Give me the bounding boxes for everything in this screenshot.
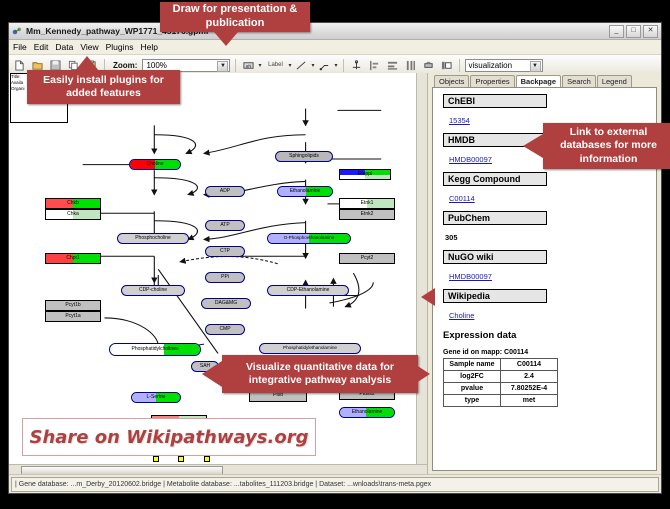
plugins-callout-pointer (75, 56, 99, 71)
menu-item-data[interactable]: Data (55, 42, 73, 52)
screenshot-root: Mm_Kennedy_pathway_WP1771_45176.gpml _ □… (0, 0, 670, 509)
node-label: Pisd (273, 393, 283, 398)
selection-handle[interactable] (204, 456, 210, 462)
tab-objects[interactable]: Objects (434, 75, 469, 87)
node-pcyt2[interactable]: Pcyt2 (339, 253, 395, 264)
node-label: Pcyt1a (65, 314, 80, 319)
tab-backpage[interactable]: Backpage (516, 75, 561, 87)
visualize-callout-pointer-left (202, 361, 222, 387)
link-callout-pointer (523, 134, 543, 158)
table-row: Sample name C00114 (444, 359, 558, 371)
node-label: Ethanolamine (290, 189, 321, 194)
node-label: Phosphocholine (135, 236, 171, 241)
db-link-kegg[interactable]: C00114 (449, 194, 475, 203)
maximize-button[interactable]: □ (626, 25, 641, 38)
node-label: Etnk2 (361, 212, 374, 217)
align-left-icon[interactable] (367, 58, 382, 73)
title-bar: Mm_Kennedy_pathway_WP1771_45176.gpml _ □… (9, 23, 661, 40)
cell-value: 2.4 (501, 371, 558, 383)
node-o-phosphoethanolamine[interactable]: O-Phosphoethanolamine (267, 233, 351, 244)
pathvisio-icon (12, 26, 22, 36)
node-pcyt1a[interactable]: Pcyt1a (45, 311, 101, 322)
node-etnk2[interactable]: Etnk2 (339, 209, 395, 220)
data-node-icon[interactable]: aN (241, 58, 256, 73)
menu-item-view[interactable]: View (80, 42, 98, 52)
line-icon[interactable] (294, 58, 309, 73)
tab-search[interactable]: Search (562, 75, 596, 87)
node-label: Pcyt2 (361, 256, 374, 261)
cell-key: pvalue (444, 383, 501, 395)
zoom-label: Zoom: (113, 61, 137, 70)
cell-key: Sample name (444, 359, 501, 371)
expression-data-heading: Expression data (443, 330, 656, 341)
zoom-value: 100% (146, 61, 166, 70)
db-link-wikipedia[interactable]: Choline (449, 311, 474, 320)
node-chka[interactable]: Chka (45, 209, 101, 220)
menu-item-help[interactable]: Help (141, 42, 158, 52)
node-ethanolamine-right[interactable]: Ethanolamine (339, 407, 395, 418)
pathway-organism-label: Organi (11, 86, 25, 92)
node-label: Phosphatidylethanolamine (283, 346, 337, 351)
expression-callout-pointer (421, 288, 435, 306)
pathway-canvas[interactable]: Title: Availa Organi (9, 73, 428, 475)
gene-id-label: Gene id on mapp: C00114 (443, 349, 656, 356)
node-label: CDP-choline (139, 288, 167, 293)
db-link-chebi[interactable]: 15354 (449, 116, 470, 125)
menu-bar: File Edit Data View Plugins Help (9, 40, 661, 55)
label-dropdown-icon[interactable]: ▾ (288, 62, 291, 69)
node-chpt1[interactable]: Chpt1 (45, 253, 101, 264)
node-label: DAG&MG (215, 301, 237, 306)
side-panel-tabs: Objects Properties Backpage Search Legen… (428, 73, 661, 87)
draw-callout: Draw for presentation & publication (160, 2, 310, 32)
node-l-serine-left[interactable]: L-Serine (131, 392, 181, 403)
node-label: Chka (67, 212, 79, 217)
selection-handle[interactable] (153, 456, 159, 462)
table-row: pvalue 7.80252E-4 (444, 383, 558, 395)
visualization-chevron-down-icon[interactable]: ▼ (530, 61, 541, 72)
pathway-info-text: Title: Availa Organi (11, 74, 25, 92)
node-label: Etnppl (358, 172, 372, 177)
node-phosphocholine[interactable]: Phosphocholine (117, 233, 189, 244)
node-label: ADP (220, 189, 230, 194)
db-header-kegg-compound: Kegg Compound (443, 172, 547, 186)
node-pcyt1b[interactable]: Pcyt1b (45, 300, 101, 311)
table-row: log2FC 2.4 (444, 371, 558, 383)
node-cmp[interactable]: CMP (205, 324, 245, 335)
db-header-wikipedia: Wikipedia (443, 289, 547, 303)
cell-value: 7.80252E-4 (501, 383, 558, 395)
selection-handle[interactable] (178, 456, 184, 462)
share-banner: Share on Wikipathways.org (22, 418, 316, 456)
node-ppi[interactable]: PPi (205, 272, 245, 283)
toolbar-separator-2 (235, 59, 236, 72)
node-label: CTP (220, 249, 230, 254)
window-controls: _ □ ✕ (609, 25, 658, 38)
visualize-callout-pointer-right (410, 361, 430, 387)
node-etnk1[interactable]: Etnk1 (339, 198, 395, 209)
table-row: type met (444, 395, 558, 407)
node-label: PPi (221, 275, 229, 280)
node-label: Etnk1 (361, 201, 374, 206)
status-text: | Gene database: ...m_Derby_20120602.bri… (15, 481, 431, 488)
cell-key: log2FC (444, 371, 501, 383)
share-banner-text: Share on Wikipathways.org (30, 427, 309, 448)
menu-item-file[interactable]: File (13, 42, 27, 52)
db-link-hmdb[interactable]: HMDB00097 (449, 155, 492, 164)
node-chkb[interactable]: Chkb (45, 198, 101, 209)
node-label: Choline (147, 162, 164, 167)
chevron-down-icon[interactable]: ▼ (217, 61, 228, 72)
db-header-chebi: ChEBI (443, 94, 547, 108)
stack-icon[interactable] (403, 58, 418, 73)
node-adp[interactable]: ADP (205, 186, 245, 197)
node-cdp-ethanolamine[interactable]: CDP-Ethanolamine (267, 285, 349, 296)
draw-callout-pointer (214, 32, 238, 46)
arrow-connector-icon[interactable] (317, 58, 332, 73)
tab-properties[interactable]: Properties (470, 75, 514, 87)
node-cdp-choline[interactable]: CDP-choline (121, 285, 185, 296)
status-bar: | Gene database: ...m_Derby_20120602.bri… (9, 474, 661, 493)
node-phosphatidylethanolamine[interactable]: Phosphatidylethanolamine (259, 343, 361, 354)
canvas-vertical-scrollbar[interactable] (416, 73, 427, 465)
node-etnppl[interactable]: Etnppl (339, 169, 391, 180)
close-button[interactable]: ✕ (643, 25, 658, 38)
node-label: CDP-Ethanolamine (287, 288, 330, 293)
node-label: ATP (220, 223, 229, 228)
distribute-icon[interactable] (385, 58, 400, 73)
cell-key: type (444, 395, 501, 407)
line-dropdown-icon[interactable]: ▾ (311, 62, 314, 69)
node-ctp[interactable]: CTP (205, 246, 245, 257)
new-file-icon[interactable] (12, 58, 27, 73)
arrow-dropdown-icon[interactable]: ▾ (334, 62, 337, 69)
node-label: Chpt1 (66, 256, 79, 261)
group-icon[interactable] (421, 58, 436, 73)
db-value-pubchem: 305 (445, 233, 458, 242)
node-label: O-Phosphoethanolamine (284, 236, 335, 241)
node-atp[interactable]: ATP (205, 220, 245, 231)
tab-legend[interactable]: Legend (597, 75, 632, 87)
node-choline-top[interactable]: Choline (129, 159, 181, 170)
expression-table: Sample name C00114 log2FC 2.4 pvalue 7.8… (443, 358, 558, 407)
node-label: Pcyt1b (65, 303, 80, 308)
label-tool[interactable]: Label (264, 58, 286, 73)
toolbar-separator-3 (343, 59, 344, 72)
node-label: Ethanolamine (352, 410, 383, 415)
node-label: CMP (219, 327, 230, 332)
visualization-combo[interactable]: visualization ▼ (465, 59, 543, 72)
node-label: Chkb (67, 201, 79, 206)
cell-value: met (501, 395, 558, 407)
menu-item-plugins[interactable]: Plugins (106, 42, 134, 52)
node-label: L-Serine (147, 395, 166, 400)
cell-value: C00114 (501, 359, 558, 371)
db-header-pubchem: PubChem (443, 211, 547, 225)
menu-item-edit[interactable]: Edit (34, 42, 49, 52)
anchor-icon[interactable] (349, 58, 364, 73)
node-ethanolamine-top[interactable]: Ethanolamine (277, 186, 333, 197)
toolbar-separator-4 (459, 59, 460, 72)
node-label: Sphingolipids (289, 154, 319, 159)
svg-text:aN: aN (246, 63, 252, 68)
node-dagmag[interactable]: DAG&MG (201, 298, 251, 309)
db-link-nugo[interactable]: HMDB00097 (449, 272, 492, 281)
data-node-dropdown-icon[interactable]: ▾ (258, 62, 261, 69)
node-sphingolipids[interactable]: Sphingolipids (275, 151, 333, 162)
plugins-callout: Easily install plugins for added feature… (27, 70, 180, 104)
visualization-value: visualization (469, 61, 513, 70)
link-callout: Link to external databases for more info… (543, 123, 670, 169)
minimize-button[interactable]: _ (609, 25, 624, 38)
order-icon[interactable] (439, 58, 454, 73)
node-label: Phosphatidylcholines (132, 347, 179, 352)
status-bar-inner: | Gene database: ...m_Derby_20120602.bri… (11, 477, 659, 492)
db-header-nugo-wiki: NuGO wiki (443, 250, 547, 264)
node-phosphatidylcholines[interactable]: Phosphatidylcholines (109, 343, 201, 356)
visualize-callout: Visualize quantitative data for integrat… (222, 355, 418, 393)
